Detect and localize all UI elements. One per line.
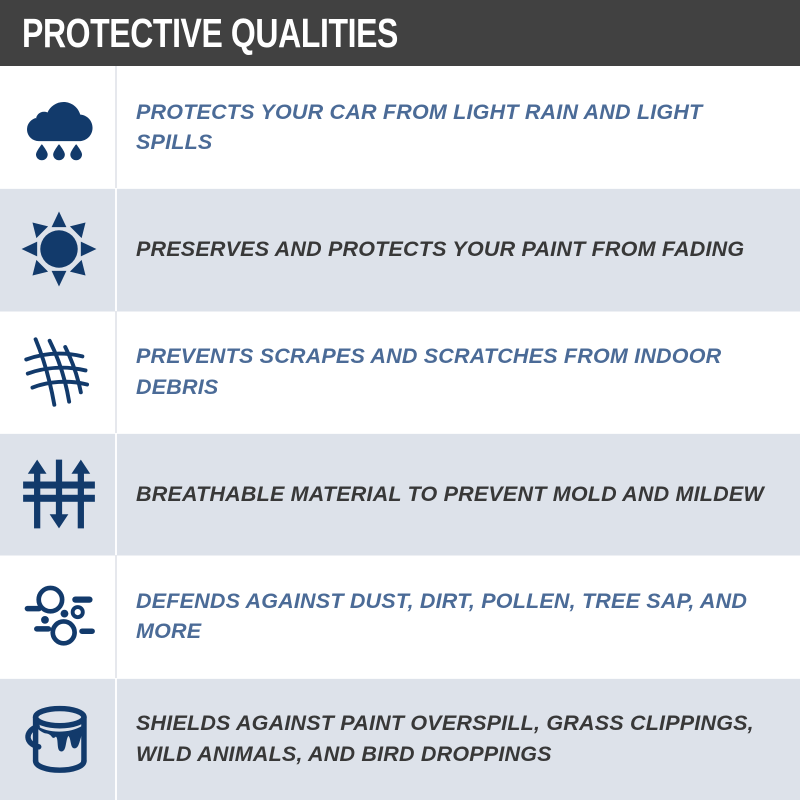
feature-list: PROTECTS YOUR CAR FROM LIGHT RAIN AND LI… [0, 66, 800, 800]
header-bar: PROTECTIVE QUALITIES [0, 0, 800, 66]
feature-text: PROTECTS YOUR CAR FROM LIGHT RAIN AND LI… [136, 97, 776, 158]
text-cell: BREATHABLE MATERIAL TO PREVENT MOLD AND … [117, 433, 800, 555]
text-cell: PREVENTS SCRAPES AND SCRATCHES FROM INDO… [117, 311, 800, 433]
text-cell: PROTECTS YOUR CAR FROM LIGHT RAIN AND LI… [117, 66, 800, 188]
paint-can-icon [20, 700, 98, 778]
feature-row: PROTECTS YOUR CAR FROM LIGHT RAIN AND LI… [0, 66, 800, 188]
feature-text: PREVENTS SCRAPES AND SCRATCHES FROM INDO… [136, 341, 776, 402]
text-cell: SHIELDS AGAINST PAINT OVERSPILL, GRASS C… [117, 678, 800, 800]
icon-cell [0, 433, 117, 555]
icon-cell [0, 188, 117, 310]
feature-row: BREATHABLE MATERIAL TO PREVENT MOLD AND … [0, 433, 800, 555]
icon-cell [0, 66, 117, 188]
feature-text: SHIELDS AGAINST PAINT OVERSPILL, GRASS C… [136, 708, 776, 769]
sun-icon [20, 210, 98, 288]
feature-text: BREATHABLE MATERIAL TO PREVENT MOLD AND … [136, 479, 764, 510]
feature-text: DEFENDS AGAINST DUST, DIRT, POLLEN, TREE… [136, 586, 776, 647]
feature-row: SHIELDS AGAINST PAINT OVERSPILL, GRASS C… [0, 678, 800, 800]
rain-cloud-icon [20, 88, 98, 166]
feature-row: DEFENDS AGAINST DUST, DIRT, POLLEN, TREE… [0, 555, 800, 677]
text-cell: DEFENDS AGAINST DUST, DIRT, POLLEN, TREE… [117, 555, 800, 677]
protective-qualities-infographic: PROTECTIVE QUALITIES PROTECTS YOUR CAR F… [0, 0, 800, 800]
dust-particles-icon [20, 577, 98, 655]
feature-row: PREVENTS SCRAPES AND SCRATCHES FROM INDO… [0, 311, 800, 433]
feature-text: PRESERVES AND PROTECTS YOUR PAINT FROM F… [136, 234, 744, 265]
scratch-mesh-icon [20, 333, 98, 411]
icon-cell [0, 555, 117, 677]
breathable-arrows-icon [20, 455, 98, 533]
feature-row: PRESERVES AND PROTECTS YOUR PAINT FROM F… [0, 188, 800, 310]
icon-cell [0, 311, 117, 433]
page-title: PROTECTIVE QUALITIES [22, 13, 398, 54]
text-cell: PRESERVES AND PROTECTS YOUR PAINT FROM F… [117, 188, 800, 310]
icon-cell [0, 678, 117, 800]
